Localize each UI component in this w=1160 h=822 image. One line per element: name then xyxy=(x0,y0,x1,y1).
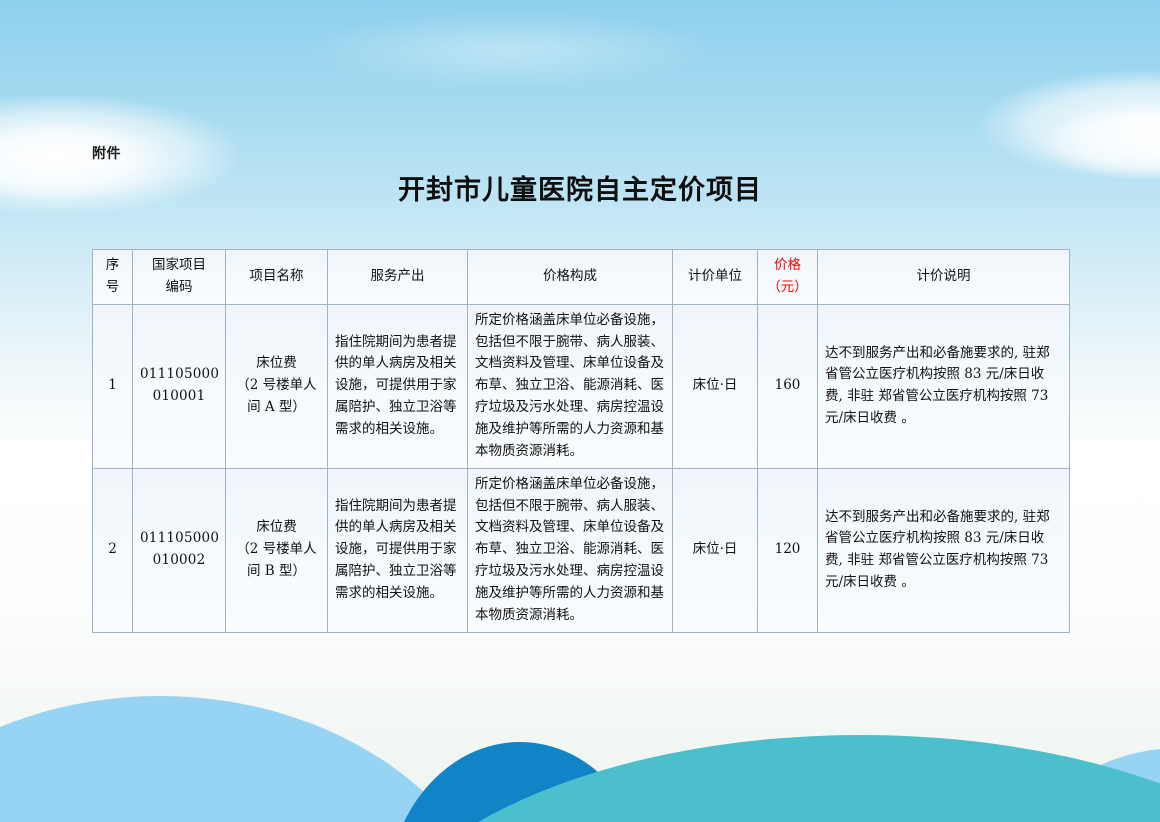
column-header-code: 国家项目编码 xyxy=(133,250,226,305)
column-header-price: 价格（元） xyxy=(758,250,818,305)
cell-code: 011105000010002 xyxy=(133,468,226,632)
cell-name-line: 间 A 型） xyxy=(233,397,320,419)
cell-code-line: 010001 xyxy=(140,386,218,408)
column-header-line: 计价说明 xyxy=(825,266,1062,288)
column-header-line: 价格 xyxy=(765,255,810,277)
cell-code-line: 011105000 xyxy=(140,364,218,386)
cell-name-line: 床位费 xyxy=(233,353,320,375)
table-row: 2011105000010002床位费（2 号楼单人间 B 型）指住院期间为患者… xyxy=(93,468,1070,632)
cell-name: 床位费（2 号楼单人间 B 型） xyxy=(226,468,328,632)
cell-price: 160 xyxy=(758,304,818,468)
column-header-note: 计价说明 xyxy=(818,250,1070,305)
price-table: 序号 国家项目编码 项目名称 服务产出 价格构成 计价单位 价格（元） 计价说明… xyxy=(92,249,1070,633)
cell-name-line: 间 B 型） xyxy=(233,561,320,583)
column-header-line: 号 xyxy=(100,277,125,299)
price-table-container: 序号 国家项目编码 项目名称 服务产出 价格构成 计价单位 价格（元） 计价说明… xyxy=(92,249,1069,633)
cell-composition: 所定价格涵盖床单位必备设施，包括但不限于腕带、病人服装、文档资料及管理、床单位设… xyxy=(468,468,673,632)
cell-composition: 所定价格涵盖床单位必备设施，包括但不限于腕带、病人服装、文档资料及管理、床单位设… xyxy=(468,304,673,468)
cell-code: 011105000010001 xyxy=(133,304,226,468)
column-header-line: 国家项目 xyxy=(140,255,218,277)
table-header: 序号 国家项目编码 项目名称 服务产出 价格构成 计价单位 价格（元） 计价说明 xyxy=(93,250,1070,305)
cell-name-line: 床位费 xyxy=(233,517,320,539)
column-header-unit: 计价单位 xyxy=(673,250,758,305)
table-body: 1011105000010001床位费（2 号楼单人间 A 型）指住院期间为患者… xyxy=(93,304,1070,632)
cell-name-line: （2 号楼单人 xyxy=(233,539,320,561)
column-header-output: 服务产出 xyxy=(328,250,468,305)
document-content: 附件 开封市儿童医院自主定价项目 序号 国家项目编码 项目名称 服务产出 xyxy=(0,0,1160,822)
cell-note: 达不到服务产出和必备施要求的, 驻郑省管公立医疗机构按照 83 元/床日收费, … xyxy=(818,468,1070,632)
attachment-label: 附件 xyxy=(92,143,121,163)
cell-name-line: （2 号楼单人 xyxy=(233,375,320,397)
cell-unit: 床位·日 xyxy=(673,304,758,468)
column-header-line: 计价单位 xyxy=(680,266,750,288)
column-header-line: 价格构成 xyxy=(475,266,665,288)
table-row: 1011105000010001床位费（2 号楼单人间 A 型）指住院期间为患者… xyxy=(93,304,1070,468)
cell-seq: 1 xyxy=(93,304,133,468)
cell-output: 指住院期间为患者提供的单人病房及相关设施，可提供用于家属陪护、独立卫浴等需求的相… xyxy=(328,304,468,468)
cell-note: 达不到服务产出和必备施要求的, 驻郑省管公立医疗机构按照 83 元/床日收费, … xyxy=(818,304,1070,468)
table-header-row: 序号 国家项目编码 项目名称 服务产出 价格构成 计价单位 价格（元） 计价说明 xyxy=(93,250,1070,305)
column-header-composition: 价格构成 xyxy=(468,250,673,305)
column-header-line: 项目名称 xyxy=(233,266,320,288)
column-header-line: （元） xyxy=(765,277,810,299)
column-header-seq: 序号 xyxy=(93,250,133,305)
page-title: 开封市儿童医院自主定价项目 xyxy=(0,168,1160,207)
cell-unit: 床位·日 xyxy=(673,468,758,632)
cell-code-line: 010002 xyxy=(140,550,218,572)
cell-code-line: 011105000 xyxy=(140,528,218,550)
column-header-line: 编码 xyxy=(140,277,218,299)
column-header-name: 项目名称 xyxy=(226,250,328,305)
cell-output: 指住院期间为患者提供的单人病房及相关设施，可提供用于家属陪护、独立卫浴等需求的相… xyxy=(328,468,468,632)
column-header-line: 序 xyxy=(100,255,125,277)
cell-seq: 2 xyxy=(93,468,133,632)
cell-price: 120 xyxy=(758,468,818,632)
column-header-line: 服务产出 xyxy=(335,266,460,288)
cell-name: 床位费（2 号楼单人间 A 型） xyxy=(226,304,328,468)
